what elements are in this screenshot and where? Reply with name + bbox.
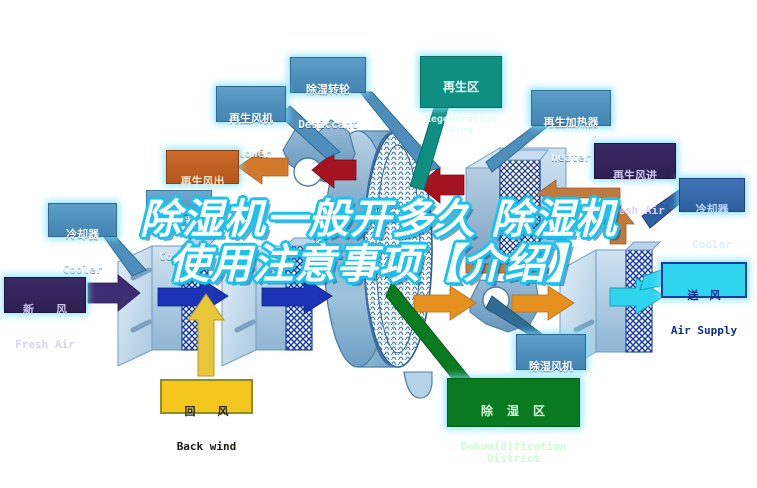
label-cn: 再生风机 [217,113,285,125]
headline-line-1: 除湿机一般开多久 除湿机 [0,197,757,242]
label-en: Back wind [162,441,251,453]
label-desiccant-wheel: 除湿转轮 Desiccant [290,57,366,93]
label-cn: 回 风 [162,406,251,418]
svg-text:XTI: XTI [378,320,395,333]
label-en: Desiccant [291,119,365,131]
label-cn: 再生风出 [167,176,238,188]
label-back-wind: 回 风 Back wind [160,379,253,414]
label-regeneration-area: 再生区 Regeneration Area [420,56,502,108]
label-en: Air Supply [663,325,745,337]
label-cn: 再生风进 [595,170,675,182]
label-exhaust: 再生风出 Exhaust [166,150,239,184]
label-cn: 除湿风机 [517,361,585,373]
headline-line-2: 使用注意事项【介绍】 [0,242,757,287]
label-cn: 再生区 [421,81,501,94]
label-en: Fresh Air [5,339,85,351]
label-en: Dehumidification District [448,441,579,464]
label-fresh-air-regeneration: 再生风进 Fresh Air [594,143,676,179]
label-dehumidification-blower: 除湿风机 Blower [516,334,586,370]
label-cn: 再生加热器 [532,117,610,129]
label-cn: 除湿转轮 [291,84,365,96]
label-cn: 除 湿 区 [448,405,579,418]
diagram-canvas: XTI [0,0,757,488]
label-cn: 送 风 [663,290,745,302]
label-dehumidification-district: 除 湿 区 Dehumidification District [447,378,580,427]
overlay-headline: 除湿机一般开多久 除湿机 使用注意事项【介绍】 [0,197,757,287]
label-en: Regeneration Area [421,115,501,136]
label-cn: 新 风 [5,304,85,316]
label-regeneration-heater: 再生加热器 heater [531,90,611,126]
label-regeneration-blower: 再生风机 Blower [216,86,286,122]
